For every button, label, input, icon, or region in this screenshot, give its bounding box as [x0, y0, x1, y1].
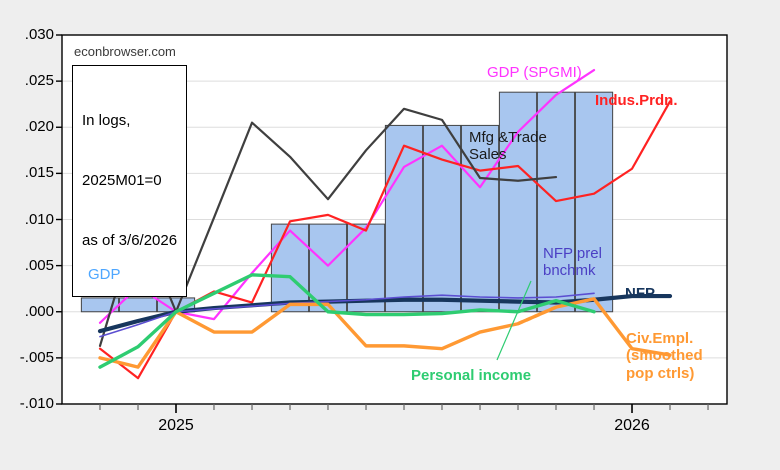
ytick-label: .020 [6, 119, 54, 134]
annotation-nfp: NFP [625, 285, 655, 302]
ytick-label: .030 [6, 27, 54, 42]
note-line-1: In logs, [82, 111, 177, 131]
xtick-label: 2026 [597, 418, 667, 434]
note-box: In logs, 2025M01=0 as of 3/6/2026 [72, 65, 187, 297]
ytick-label: .010 [6, 212, 54, 227]
ytick-label: -.010 [6, 396, 54, 411]
xtick-label: 2025 [141, 418, 211, 434]
ytick-label: .025 [6, 73, 54, 88]
bar-mfg-trade-sales [385, 125, 422, 311]
bar-mfg-trade-sales [271, 224, 308, 312]
note-line-2: 2025M01=0 [82, 171, 177, 191]
annotation-mfg-trade-sales: Mfg &Trade Sales [469, 129, 547, 164]
ytick-label: .000 [6, 304, 54, 319]
annotation-gdp-spgmi: GDP (SPGMI) [487, 64, 582, 81]
annotation-nfp-prel-bnchmk: NFP prel bnchmk [543, 245, 602, 280]
annotation-indus-prdn: Indus.Prdn. [595, 92, 678, 109]
chart-figure: econbrowser.com In logs, 2025M01=0 as of… [0, 0, 780, 470]
ytick-label: -.005 [6, 350, 54, 365]
note-line-3: as of 3/6/2026 [82, 231, 177, 251]
ytick-label: .005 [6, 258, 54, 273]
annotation-civ-empl: Civ.Empl. (smoothed pop ctrls) [626, 330, 703, 382]
annotation-gdp: GDP [88, 266, 121, 283]
ytick-label: .015 [6, 165, 54, 180]
bar-mfg-trade-sales [499, 92, 536, 312]
annotation-personal-income: Personal income [411, 367, 531, 384]
watermark-label: econbrowser.com [74, 44, 176, 59]
